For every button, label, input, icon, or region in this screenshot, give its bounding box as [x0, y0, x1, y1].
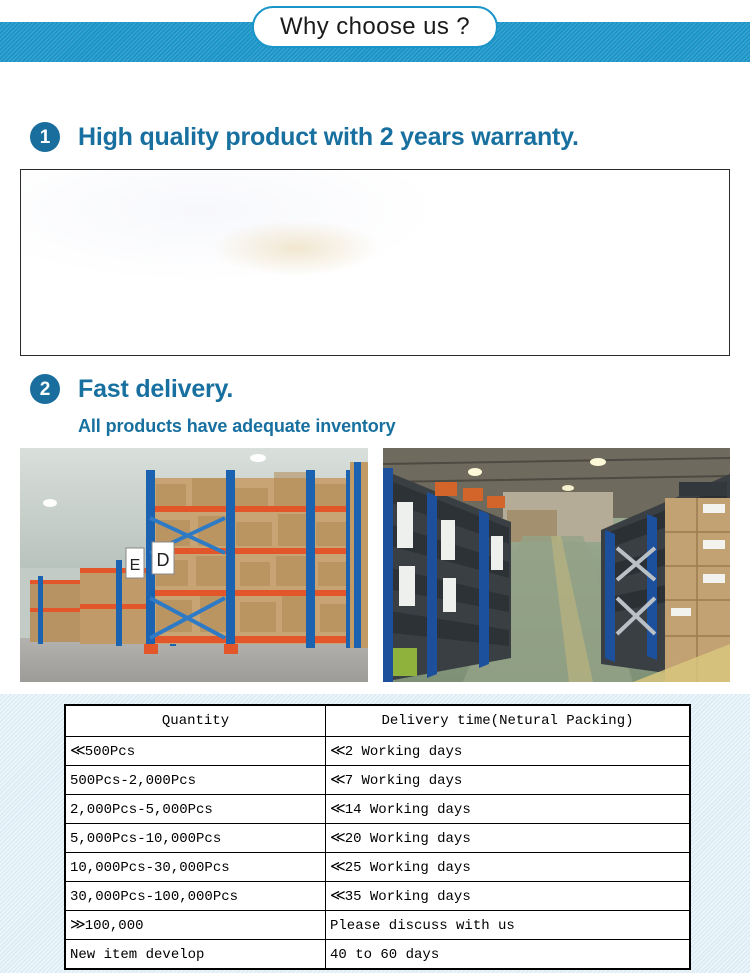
banner-title-pill: Why choose us ? [252, 6, 498, 48]
section-1-product-image [20, 169, 730, 356]
cell-quantity: ≪500Pcs [65, 737, 326, 766]
cell-delivery: ≪25 Working days [326, 853, 691, 882]
table-row: 2,000Pcs-5,000Pcs ≪14 Working days [65, 795, 690, 824]
cell-delivery-text: Please discuss with us [330, 918, 515, 934]
svg-text:E: E [130, 557, 141, 574]
section-2-number-badge: 2 [30, 374, 60, 404]
table-header-row: Quantity Delivery time(Netural Packing) [65, 705, 690, 737]
cell-quantity: ≫100,000 [65, 911, 326, 940]
greater-equal-icon: ≫ [70, 915, 85, 933]
cell-delivery: 40 to 60 days [326, 940, 691, 970]
cell-quantity-text: 5,000Pcs-10,000Pcs [70, 831, 221, 847]
cell-delivery-text: 40 to 60 days [330, 947, 439, 963]
page-title: Why choose us ? [280, 13, 470, 41]
table-header-delivery-time: Delivery time(Netural Packing) [326, 705, 691, 737]
cell-quantity-text: 30,000Pcs-100,000Pcs [70, 889, 238, 905]
cell-delivery-text: 35 Working days [345, 889, 471, 905]
section-2-heading: 2 Fast delivery. [30, 374, 233, 404]
less-equal-icon: ≪ [70, 741, 85, 759]
cell-delivery-text: 2 Working days [345, 744, 463, 760]
section-1-title: High quality product with 2 years warran… [78, 123, 579, 152]
cell-quantity: 10,000Pcs-30,000Pcs [65, 853, 326, 882]
cell-delivery-text: 25 Working days [345, 860, 471, 876]
section-2-subtitle: All products have adequate inventory [78, 416, 395, 437]
cell-delivery: ≪2 Working days [326, 737, 691, 766]
cell-delivery: ≪7 Working days [326, 766, 691, 795]
cell-quantity: 30,000Pcs-100,000Pcs [65, 882, 326, 911]
less-equal-icon: ≪ [330, 857, 345, 875]
cell-quantity-text: 500Pcs [85, 744, 135, 760]
cell-delivery: ≪20 Working days [326, 824, 691, 853]
less-equal-icon: ≪ [330, 770, 345, 788]
svg-text:D: D [157, 550, 170, 570]
less-equal-icon: ≪ [330, 799, 345, 817]
less-equal-icon: ≪ [330, 886, 345, 904]
table-row: 10,000Pcs-30,000Pcs ≪25 Working days [65, 853, 690, 882]
cell-delivery-text: 20 Working days [345, 831, 471, 847]
section-1-number-badge: 1 [30, 122, 60, 152]
table-header-quantity: Quantity [65, 705, 326, 737]
cell-quantity-text: 10,000Pcs-30,000Pcs [70, 860, 230, 876]
cell-delivery-text: 14 Working days [345, 802, 471, 818]
table-row: ≫100,000 Please discuss with us [65, 911, 690, 940]
warehouse-racking-photo: E [20, 448, 368, 682]
table-row: 500Pcs-2,000Pcs ≪7 Working days [65, 766, 690, 795]
cell-quantity: 2,000Pcs-5,000Pcs [65, 795, 326, 824]
section-1-heading: 1 High quality product with 2 years warr… [30, 122, 579, 152]
cell-delivery: ≪14 Working days [326, 795, 691, 824]
cell-quantity: 5,000Pcs-10,000Pcs [65, 824, 326, 853]
cell-quantity-text: 500Pcs-2,000Pcs [70, 773, 196, 789]
section-2-title: Fast delivery. [78, 375, 233, 404]
cell-quantity: 500Pcs-2,000Pcs [65, 766, 326, 795]
cell-delivery-text: 7 Working days [345, 773, 463, 789]
delivery-time-table: Quantity Delivery time(Netural Packing) … [64, 704, 691, 970]
page-header-banner: Why choose us ? [0, 0, 750, 68]
cell-quantity-text: 100,000 [85, 918, 144, 934]
less-equal-icon: ≪ [330, 741, 345, 759]
cell-quantity-text: New item develop [70, 947, 204, 963]
table-row: ≪500Pcs ≪2 Working days [65, 737, 690, 766]
cell-quantity-text: 2,000Pcs-5,000Pcs [70, 802, 213, 818]
cell-quantity: New item develop [65, 940, 326, 970]
less-equal-icon: ≪ [330, 828, 345, 846]
cell-delivery: Please discuss with us [326, 911, 691, 940]
cell-delivery: ≪35 Working days [326, 882, 691, 911]
warehouse-aisle-photo [383, 448, 730, 682]
table-row: 30,000Pcs-100,000Pcs ≪35 Working days [65, 882, 690, 911]
table-row: New item develop 40 to 60 days [65, 940, 690, 970]
table-row: 5,000Pcs-10,000Pcs ≪20 Working days [65, 824, 690, 853]
